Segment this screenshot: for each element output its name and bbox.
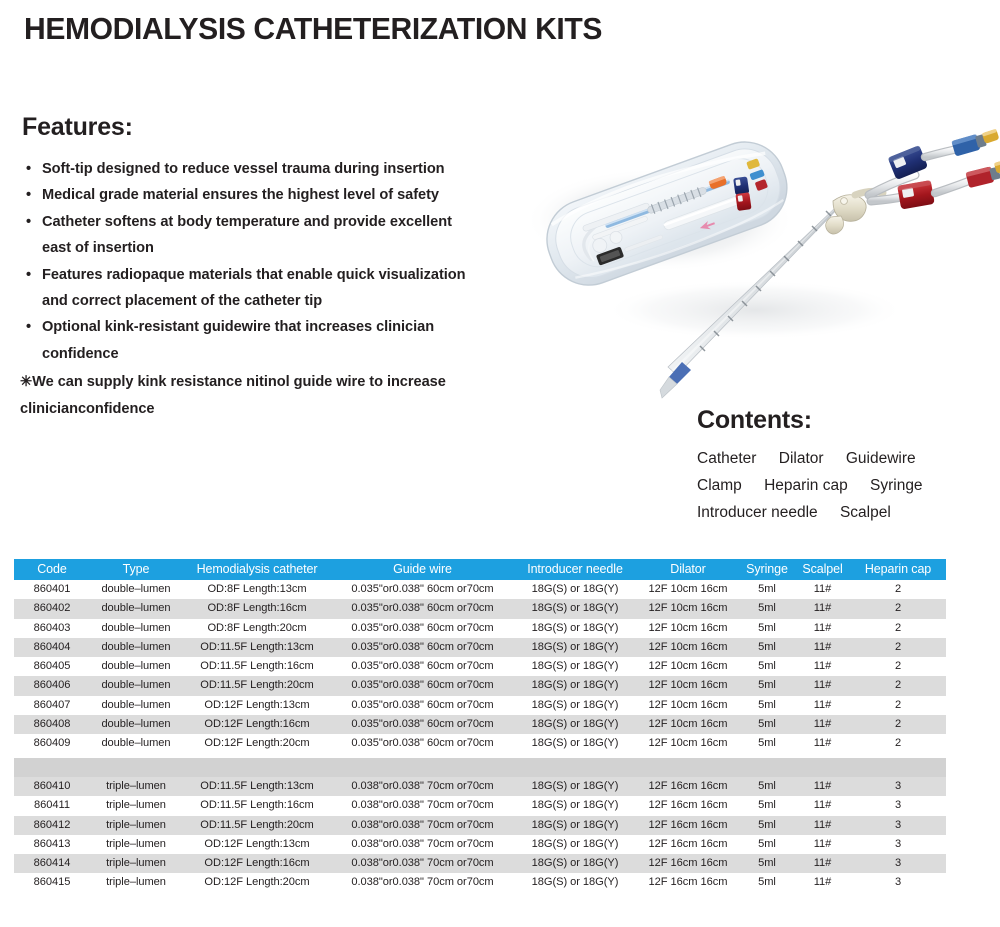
spec-column-header: Dilator xyxy=(637,559,739,580)
spec-cell: double–lumen xyxy=(90,619,182,638)
spec-cell: 5ml xyxy=(739,580,795,599)
spec-cell: double–lumen xyxy=(90,599,182,618)
spec-cell: 12F 16cm 16cm xyxy=(637,835,739,854)
red-luer-connector xyxy=(965,165,1000,189)
spec-cell: OD:12F Length:16cm xyxy=(182,715,332,734)
spec-cell: 18G(S) or 18G(Y) xyxy=(513,854,637,873)
page-title: HEMODIALYSIS CATHETERIZATION KITS xyxy=(24,11,602,47)
spec-cell: 0.038"or0.038" 70cm or70cm xyxy=(332,796,513,815)
feature-text: Optional kink-resistant guidewire that i… xyxy=(42,319,434,361)
spec-cell: 12F 10cm 16cm xyxy=(637,734,739,753)
contents-item: Guidewire xyxy=(846,445,916,472)
spec-cell: 11# xyxy=(795,777,850,796)
spec-column-header: Introducer needle xyxy=(513,559,637,580)
spec-cell: 11# xyxy=(795,715,850,734)
spec-cell: 5ml xyxy=(739,715,795,734)
spec-cell: 2 xyxy=(850,696,946,715)
spec-column-header: Guide wire xyxy=(332,559,513,580)
spec-column-header: Hemodialysis catheter xyxy=(182,559,332,580)
spec-cell: 11# xyxy=(795,796,850,815)
feature-item: • Catheter softens at body temperature a… xyxy=(20,209,480,262)
spec-cell: 12F 10cm 16cm xyxy=(637,715,739,734)
spec-cell: 11# xyxy=(795,696,850,715)
spec-cell: 860414 xyxy=(14,854,90,873)
contents-row: Clamp Heparin cap Syringe xyxy=(697,472,997,499)
spec-cell: 0.038"or0.038" 70cm or70cm xyxy=(332,816,513,835)
spec-table-row: 860404double–lumenOD:11.5F Length:13cm0.… xyxy=(14,638,946,657)
contents-row: Catheter Dilator Guidewire xyxy=(697,445,997,472)
spec-cell: 0.038"or0.038" 70cm or70cm xyxy=(332,873,513,892)
spec-cell: 12F 10cm 16cm xyxy=(637,657,739,676)
spec-table-header-row: CodeTypeHemodialysis catheterGuide wireI… xyxy=(14,559,946,580)
features-list: • Soft-tip designed to reduce vessel tra… xyxy=(20,156,480,367)
spec-cell: 860403 xyxy=(14,619,90,638)
spec-cell: 5ml xyxy=(739,854,795,873)
spec-cell: 11# xyxy=(795,873,850,892)
feature-text: Soft-tip designed to reduce vessel traum… xyxy=(42,161,445,177)
spec-column-header: Scalpel xyxy=(795,559,850,580)
spec-cell: 5ml xyxy=(739,835,795,854)
feature-item: • Soft-tip designed to reduce vessel tra… xyxy=(20,156,480,182)
spec-cell: 12F 16cm 16cm xyxy=(637,816,739,835)
spec-cell: 860402 xyxy=(14,599,90,618)
spec-cell: 12F 10cm 16cm xyxy=(637,580,739,599)
spec-cell: triple–lumen xyxy=(90,796,182,815)
spec-table-row: 860407double–lumenOD:12F Length:13cm0.03… xyxy=(14,696,946,715)
product-photo-illustration xyxy=(455,95,1000,415)
spec-table-row: 860413triple–lumenOD:12F Length:13cm0.03… xyxy=(14,835,946,854)
spec-cell: 860406 xyxy=(14,676,90,695)
spec-cell: 3 xyxy=(850,854,946,873)
spec-cell: OD:11.5F Length:13cm xyxy=(182,638,332,657)
features-section: Features: • Soft-tip designed to reduce … xyxy=(20,113,480,422)
spec-cell: 5ml xyxy=(739,657,795,676)
spec-cell: triple–lumen xyxy=(90,816,182,835)
spec-cell: 860407 xyxy=(14,696,90,715)
spec-cell: 3 xyxy=(850,835,946,854)
spec-cell: 5ml xyxy=(739,734,795,753)
spec-cell: 12F 10cm 16cm xyxy=(637,696,739,715)
spec-cell: 5ml xyxy=(739,696,795,715)
spec-table-row: 860408double–lumenOD:12F Length:16cm0.03… xyxy=(14,715,946,734)
spec-cell: 860410 xyxy=(14,777,90,796)
spec-cell: 0.038"or0.038" 70cm or70cm xyxy=(332,854,513,873)
bullet-icon: • xyxy=(26,156,31,182)
spec-cell: 18G(S) or 18G(Y) xyxy=(513,599,637,618)
specification-table: CodeTypeHemodialysis catheterGuide wireI… xyxy=(14,559,946,893)
spec-cell: 18G(S) or 18G(Y) xyxy=(513,638,637,657)
spec-cell: 860408 xyxy=(14,715,90,734)
spec-cell: 3 xyxy=(850,777,946,796)
contents-item: Scalpel xyxy=(840,499,891,526)
spec-cell: 0.035"or0.038" 60cm or70cm xyxy=(332,734,513,753)
spec-cell: 2 xyxy=(850,657,946,676)
spec-table-row: 860415triple–lumenOD:12F Length:20cm0.03… xyxy=(14,873,946,892)
spec-cell: 12F 16cm 16cm xyxy=(637,777,739,796)
spec-cell: 3 xyxy=(850,796,946,815)
spec-cell: 860401 xyxy=(14,580,90,599)
spec-cell: OD:12F Length:20cm xyxy=(182,873,332,892)
spec-cell: 5ml xyxy=(739,599,795,618)
spec-cell: double–lumen xyxy=(90,657,182,676)
contents-row: Introducer needle Scalpel xyxy=(697,499,997,526)
spec-cell: double–lumen xyxy=(90,638,182,657)
bullet-icon: • xyxy=(26,262,31,288)
spec-cell: 860404 xyxy=(14,638,90,657)
spec-cell: 860415 xyxy=(14,873,90,892)
contents-item: Syringe xyxy=(870,472,923,499)
spec-cell: 11# xyxy=(795,854,850,873)
spec-cell: 0.035"or0.038" 60cm or70cm xyxy=(332,580,513,599)
spec-cell: 11# xyxy=(795,599,850,618)
spec-cell: 5ml xyxy=(739,777,795,796)
spec-cell: triple–lumen xyxy=(90,835,182,854)
spec-cell: 18G(S) or 18G(Y) xyxy=(513,796,637,815)
spec-cell: 5ml xyxy=(739,619,795,638)
spec-cell: 2 xyxy=(850,580,946,599)
bullet-icon: • xyxy=(26,209,31,235)
spec-cell: OD:12F Length:13cm xyxy=(182,696,332,715)
spec-cell: OD:11.5F Length:16cm xyxy=(182,796,332,815)
feature-item: • Features radiopaque materials that ena… xyxy=(20,262,480,315)
features-heading: Features: xyxy=(22,113,480,142)
feature-item: • Optional kink-resistant guidewire that… xyxy=(20,314,480,367)
spec-cell: 5ml xyxy=(739,676,795,695)
spec-cell: 18G(S) or 18G(Y) xyxy=(513,696,637,715)
spec-cell: 18G(S) or 18G(Y) xyxy=(513,580,637,599)
red-clamp xyxy=(897,180,935,210)
spec-table-row: 860403double–lumenOD:8F Length:20cm0.035… xyxy=(14,619,946,638)
spec-cell: OD:8F Length:13cm xyxy=(182,580,332,599)
spec-table-row: 860401double–lumenOD:8F Length:13cm0.035… xyxy=(14,580,946,599)
contents-section: Contents: Catheter Dilator Guidewire Cla… xyxy=(697,406,997,526)
spec-table-row: 860406double–lumenOD:11.5F Length:20cm0.… xyxy=(14,676,946,695)
spec-cell: triple–lumen xyxy=(90,854,182,873)
spec-cell: double–lumen xyxy=(90,734,182,753)
spec-cell: 18G(S) or 18G(Y) xyxy=(513,676,637,695)
spec-cell: 2 xyxy=(850,734,946,753)
spec-cell: 11# xyxy=(795,619,850,638)
spec-cell: OD:12F Length:13cm xyxy=(182,835,332,854)
spec-cell: 2 xyxy=(850,715,946,734)
bullet-icon: • xyxy=(26,314,31,340)
contents-item: Heparin cap xyxy=(764,472,848,499)
spec-cell: 12F 16cm 16cm xyxy=(637,796,739,815)
feature-item: • Medical grade material ensures the hig… xyxy=(20,182,480,208)
contents-item: Dilator xyxy=(779,445,824,472)
spec-table-row: 860409double–lumenOD:12F Length:20cm0.03… xyxy=(14,734,946,753)
spec-cell: OD:8F Length:20cm xyxy=(182,619,332,638)
spec-cell: 0.038"or0.038" 70cm or70cm xyxy=(332,777,513,796)
bullet-icon: • xyxy=(26,182,31,208)
spec-cell: 3 xyxy=(850,873,946,892)
spec-cell: 860411 xyxy=(14,796,90,815)
spec-cell: 12F 10cm 16cm xyxy=(637,676,739,695)
spec-cell: 860405 xyxy=(14,657,90,676)
feature-text: Features radiopaque materials that enabl… xyxy=(42,267,466,309)
spec-cell: 860412 xyxy=(14,816,90,835)
spec-cell: 2 xyxy=(850,619,946,638)
spec-group-separator-cell xyxy=(14,758,946,777)
spec-table-row: 860414triple–lumenOD:12F Length:16cm0.03… xyxy=(14,854,946,873)
spec-cell: 18G(S) or 18G(Y) xyxy=(513,873,637,892)
spec-cell: 18G(S) or 18G(Y) xyxy=(513,657,637,676)
spec-cell: double–lumen xyxy=(90,696,182,715)
blue-luer-connector xyxy=(951,132,987,156)
spec-cell: triple–lumen xyxy=(90,873,182,892)
spec-cell: 2 xyxy=(850,599,946,618)
spec-cell: 18G(S) or 18G(Y) xyxy=(513,777,637,796)
spec-cell: OD:12F Length:20cm xyxy=(182,734,332,753)
spec-cell: 12F 10cm 16cm xyxy=(637,638,739,657)
spec-cell: double–lumen xyxy=(90,676,182,695)
spec-cell: 18G(S) or 18G(Y) xyxy=(513,835,637,854)
spec-cell: OD:11.5F Length:13cm xyxy=(182,777,332,796)
spec-cell: 0.035"or0.038" 60cm or70cm xyxy=(332,715,513,734)
spec-cell: 11# xyxy=(795,734,850,753)
spec-cell: 5ml xyxy=(739,816,795,835)
spec-cell: 5ml xyxy=(739,638,795,657)
spec-cell: OD:11.5F Length:20cm xyxy=(182,676,332,695)
spec-cell: 0.035"or0.038" 60cm or70cm xyxy=(332,599,513,618)
spec-cell: OD:11.5F Length:16cm xyxy=(182,657,332,676)
spec-table-container: CodeTypeHemodialysis catheterGuide wireI… xyxy=(14,559,946,893)
spec-cell: OD:8F Length:16cm xyxy=(182,599,332,618)
spec-cell: 0.038"or0.038" 70cm or70cm xyxy=(332,835,513,854)
spec-cell: 12F 10cm 16cm xyxy=(637,619,739,638)
spec-cell: 860409 xyxy=(14,734,90,753)
spec-cell: OD:11.5F Length:20cm xyxy=(182,816,332,835)
spec-table-row: 860402double–lumenOD:8F Length:16cm0.035… xyxy=(14,599,946,618)
spec-cell: 11# xyxy=(795,835,850,854)
spec-cell: 18G(S) or 18G(Y) xyxy=(513,734,637,753)
spec-cell: double–lumen xyxy=(90,715,182,734)
spec-table-body: 860401double–lumenOD:8F Length:13cm0.035… xyxy=(14,580,946,893)
spec-cell: 11# xyxy=(795,676,850,695)
spec-cell: 11# xyxy=(795,638,850,657)
spec-table-row: 860411triple–lumenOD:11.5F Length:16cm0.… xyxy=(14,796,946,815)
spec-cell: 18G(S) or 18G(Y) xyxy=(513,619,637,638)
spec-cell: 0.035"or0.038" 60cm or70cm xyxy=(332,657,513,676)
spec-cell: 12F 10cm 16cm xyxy=(637,599,739,618)
blue-clamp xyxy=(888,145,929,180)
spec-cell: double–lumen xyxy=(90,580,182,599)
spec-cell: 3 xyxy=(850,816,946,835)
spec-cell: 0.035"or0.038" 60cm or70cm xyxy=(332,619,513,638)
contents-item: Catheter xyxy=(697,445,756,472)
contents-item: Introducer needle xyxy=(697,499,818,526)
spec-table-row: 860412triple–lumenOD:11.5F Length:20cm0.… xyxy=(14,816,946,835)
spec-cell: OD:12F Length:16cm xyxy=(182,854,332,873)
spec-cell: 2 xyxy=(850,638,946,657)
product-photo xyxy=(455,95,1000,415)
spec-cell: 5ml xyxy=(739,873,795,892)
spec-column-header: Heparin cap xyxy=(850,559,946,580)
spec-cell: 0.035"or0.038" 60cm or70cm xyxy=(332,638,513,657)
spec-cell: 0.035"or0.038" 60cm or70cm xyxy=(332,696,513,715)
spec-cell: 11# xyxy=(795,657,850,676)
spec-column-header: Code xyxy=(14,559,90,580)
spec-column-header: Syringe xyxy=(739,559,795,580)
spec-cell: 11# xyxy=(795,580,850,599)
contents-heading: Contents: xyxy=(697,406,997,435)
spec-cell: 12F 16cm 16cm xyxy=(637,854,739,873)
feature-text: Medical grade material ensures the highe… xyxy=(42,187,439,203)
spec-cell: triple–lumen xyxy=(90,777,182,796)
spec-table-row: 860410triple–lumenOD:11.5F Length:13cm0.… xyxy=(14,777,946,796)
spec-cell: 18G(S) or 18G(Y) xyxy=(513,715,637,734)
spec-table-row: 860405double–lumenOD:11.5F Length:16cm0.… xyxy=(14,657,946,676)
features-note: ✳We can supply kink resistance nitinol g… xyxy=(20,369,480,422)
spec-column-header: Type xyxy=(90,559,182,580)
spec-group-separator xyxy=(14,758,946,777)
spec-cell: 11# xyxy=(795,816,850,835)
spec-cell: 860413 xyxy=(14,835,90,854)
spec-cell: 18G(S) or 18G(Y) xyxy=(513,816,637,835)
spec-cell: 0.035"or0.038" 60cm or70cm xyxy=(332,676,513,695)
spec-cell: 5ml xyxy=(739,796,795,815)
spec-cell: 2 xyxy=(850,676,946,695)
feature-text: Catheter softens at body temperature and… xyxy=(42,214,452,256)
spec-cell: 12F 16cm 16cm xyxy=(637,873,739,892)
contents-item: Clamp xyxy=(697,472,742,499)
spec-table-head: CodeTypeHemodialysis catheterGuide wireI… xyxy=(14,559,946,580)
